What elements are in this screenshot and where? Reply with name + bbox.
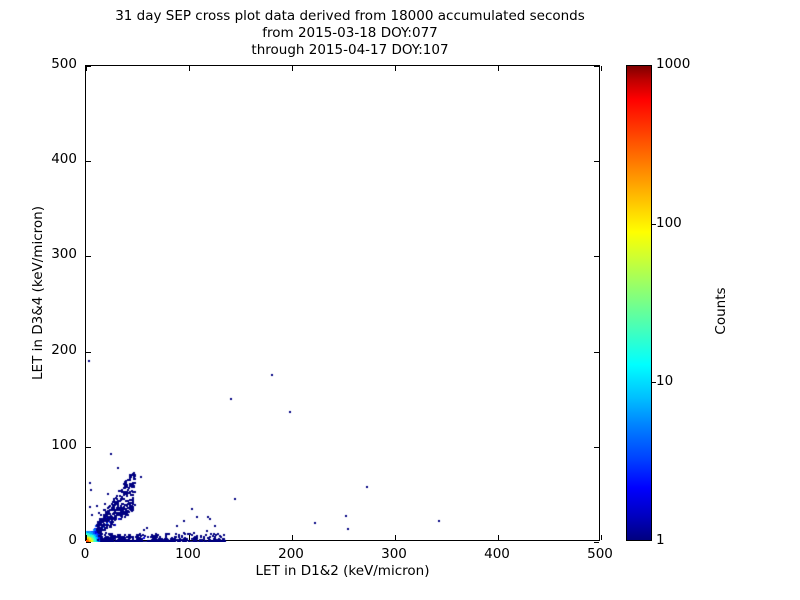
x-tick-top xyxy=(189,66,190,71)
chart-title: 31 day SEP cross plot data derived from … xyxy=(0,8,700,59)
y-tick-right xyxy=(594,352,599,353)
colorbar-gradient xyxy=(626,65,652,541)
y-tick xyxy=(86,447,91,448)
x-tick-label: 0 xyxy=(55,546,115,562)
x-tick-label: 100 xyxy=(158,546,218,562)
y-tick-label: 200 xyxy=(17,342,77,358)
chart-title-line-1: 31 day SEP cross plot data derived from … xyxy=(0,8,700,25)
x-axis-label: LET in D1&2 (keV/micron) xyxy=(85,563,600,579)
y-tick-right xyxy=(594,66,599,67)
y-tick xyxy=(86,256,91,257)
x-tick-label: 400 xyxy=(467,546,527,562)
y-tick-right xyxy=(594,161,599,162)
x-tick-top xyxy=(601,66,602,71)
y-tick xyxy=(86,66,91,67)
y-tick xyxy=(86,352,91,353)
y-tick-right xyxy=(594,542,599,543)
y-axis-label: LET in D3&4 (keV/micron) xyxy=(30,163,46,423)
x-tick xyxy=(601,535,602,540)
y-tick-right xyxy=(594,447,599,448)
colorbar-tick-label: 10 xyxy=(656,373,673,389)
x-tick-top xyxy=(498,66,499,71)
y-tick-label: 0 xyxy=(17,532,77,548)
x-tick-label: 200 xyxy=(261,546,321,562)
y-tick-label: 400 xyxy=(17,151,77,167)
colorbar-tick-label: 1 xyxy=(656,532,665,548)
x-tick-top xyxy=(292,66,293,71)
y-tick-label: 500 xyxy=(17,56,77,72)
scatter-data-layer xyxy=(86,66,601,542)
colorbar-tick-label: 1000 xyxy=(656,56,690,72)
y-tick-right xyxy=(594,256,599,257)
chart-title-line-2: from 2015-03-18 DOY:077 xyxy=(0,25,700,42)
x-tick-label: 300 xyxy=(364,546,424,562)
colorbar-label: Counts xyxy=(713,241,729,381)
scatter-plot-axes xyxy=(85,65,600,541)
y-tick xyxy=(86,161,91,162)
x-tick xyxy=(86,535,87,540)
x-tick xyxy=(395,535,396,540)
x-tick-top xyxy=(395,66,396,71)
x-tick xyxy=(292,535,293,540)
colorbar-tick-label: 100 xyxy=(656,215,682,231)
y-tick-label: 300 xyxy=(17,246,77,262)
colorbar xyxy=(626,65,652,541)
x-tick xyxy=(498,535,499,540)
y-tick xyxy=(86,542,91,543)
y-tick-label: 100 xyxy=(17,437,77,453)
x-tick-label: 500 xyxy=(570,546,630,562)
x-tick xyxy=(189,535,190,540)
chart-title-line-3: through 2015-04-17 DOY:107 xyxy=(0,42,700,59)
